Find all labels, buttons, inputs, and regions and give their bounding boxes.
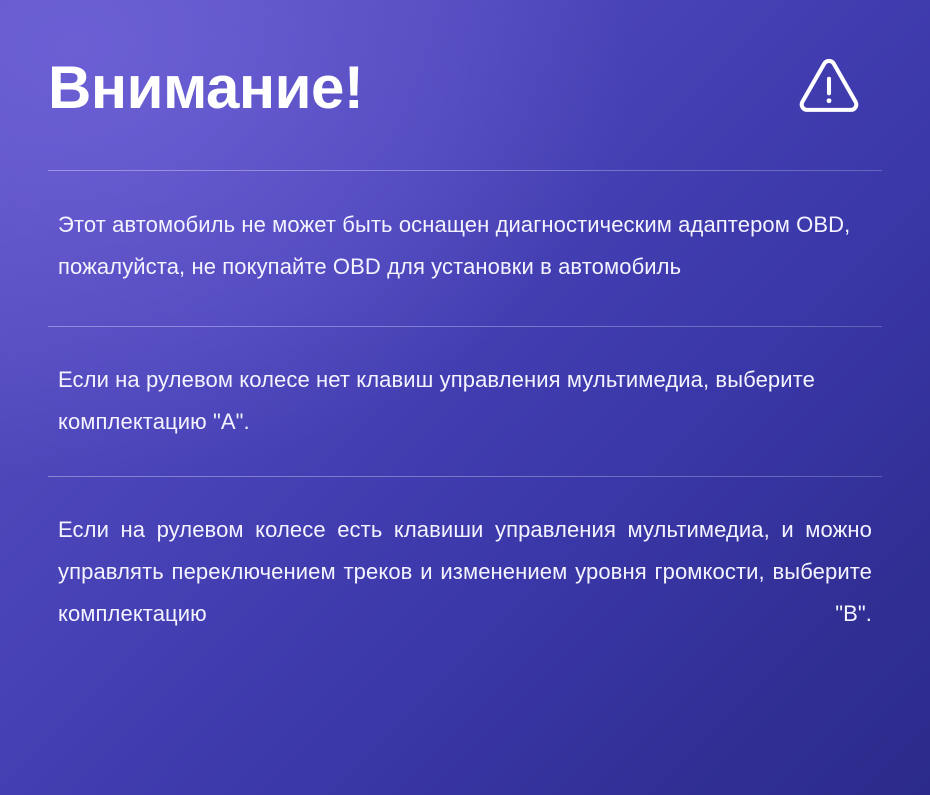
section-obd-warning: Этот автомобиль не может быть оснащен ди… <box>48 171 882 326</box>
warning-triangle-icon <box>798 56 860 118</box>
section-trim-a: Если на рулевом колесе нет клавиш управл… <box>48 327 882 476</box>
section-text: Если на рулевом колесе нет клавиш управл… <box>58 359 872 443</box>
section-text: Этот автомобиль не может быть оснащен ди… <box>58 204 872 288</box>
section-trim-b: Если на рулевом колесе есть клавиши упра… <box>48 477 882 717</box>
warning-notice-card: Внимание! Этот автомобиль не может быть … <box>0 0 930 795</box>
page-title: Внимание! <box>48 52 363 118</box>
notice-header: Внимание! <box>48 0 882 170</box>
section-text: Если на рулевом колесе есть клавиши упра… <box>58 509 872 677</box>
